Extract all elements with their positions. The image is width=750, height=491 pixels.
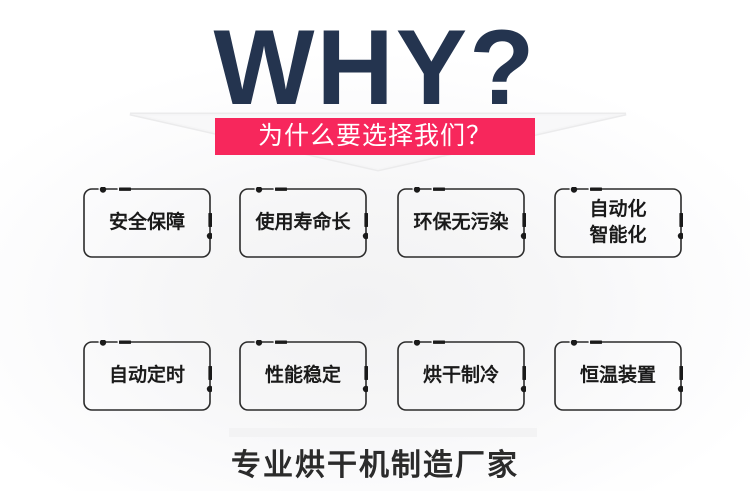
feature-label-line: 环保无污染 — [413, 212, 508, 234]
feature-label: 安全保障 — [82, 187, 212, 259]
feature-box-stable[interactable]: 性能稳定 — [238, 340, 368, 412]
feature-box-long-life[interactable]: 使用寿命长 — [238, 187, 368, 259]
feature-label: 自动定时 — [82, 340, 212, 412]
feature-label: 性能稳定 — [238, 340, 368, 412]
feature-label: 恒温装置 — [553, 340, 683, 412]
feature-label-line: 使用寿命长 — [255, 212, 350, 234]
feature-label-line: 安全保障 — [109, 212, 185, 234]
feature-box-automation[interactable]: 自动化 智能化 — [553, 187, 683, 259]
feature-label-line: 恒温装置 — [580, 365, 656, 387]
feature-box-eco-friendly[interactable]: 环保无污染 — [396, 187, 526, 259]
feature-label-line: 智能化 — [589, 223, 646, 249]
promo-poster: WHY? 为什么要选择我们？ 安全保障 — [0, 0, 750, 491]
feature-label: 环保无污染 — [396, 187, 526, 259]
feature-label-line: 自动化 — [589, 197, 646, 223]
feature-box-constant-temp[interactable]: 恒温装置 — [553, 340, 683, 412]
subtitle-text: 为什么要选择我们？ — [258, 124, 492, 149]
feature-label-line: 性能稳定 — [265, 365, 341, 387]
feature-box-safety[interactable]: 安全保障 — [82, 187, 212, 259]
bottom-grey-band — [229, 428, 537, 437]
feature-box-auto-timer[interactable]: 自动定时 — [82, 340, 212, 412]
feature-label: 自动化 智能化 — [553, 187, 683, 259]
page-title: WHY? — [0, 14, 750, 121]
feature-label: 烘干制冷 — [396, 340, 526, 412]
feature-box-dry-cool[interactable]: 烘干制冷 — [396, 340, 526, 412]
feature-label-line: 烘干制冷 — [423, 365, 499, 387]
subtitle-banner: 为什么要选择我们？ — [215, 118, 535, 155]
feature-label: 使用寿命长 — [238, 187, 368, 259]
feature-label-line: 自动定时 — [109, 365, 185, 387]
footer-slogan: 专业烘干机制造厂家 — [0, 440, 750, 484]
